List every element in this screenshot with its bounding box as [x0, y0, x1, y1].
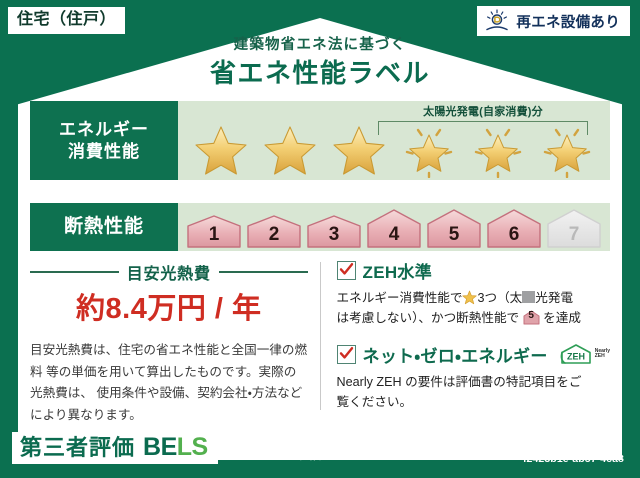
evaluation-date: 評価日 2025年6月2日 [485, 432, 624, 453]
bels-wordmark: BELS [143, 435, 208, 460]
utility-cost-note: 目安光熱費は、住宅の省エネ性能と全国一律の燃料 等の単価を用いて算出したものです… [30, 340, 308, 427]
star-icon [261, 122, 319, 178]
energy-performance-value: 太陽光発電(自家消費)分 [178, 101, 610, 180]
label-title-block: 建築物省エネ法に基づく 省エネ性能ラベル [0, 38, 640, 88]
insulation-badge-number: 2 [246, 224, 302, 246]
utility-cost-value: 約8.4万円 / 年 [30, 294, 308, 326]
insulation-badge-inactive: 7 [546, 208, 602, 248]
zeh-standard-block: ZEH水準 エネルギー消費性能で3つ（太光発電 は考慮しない）、かつ断熱性能で … [337, 258, 610, 329]
net-zero-heading: ネット・ゼロ・エネルギー ZEH Nearly ZEH [337, 342, 610, 367]
renewable-equipment-badge: 再エネ設備あり [477, 6, 630, 36]
energy-key-line2: 消費性能 [68, 141, 140, 162]
net-zero-title: ネット・ゼロ・エネルギー [363, 342, 548, 367]
inline-insulation-badge: 5 [523, 310, 540, 325]
bels-certification-mark: 第三者評価 BELS [12, 432, 218, 464]
zeh-logo-sub2: ZEH [595, 353, 605, 359]
insulation-badge-number: 6 [486, 224, 542, 246]
insulation-performance-row: 断熱性能 [30, 203, 610, 251]
zeh-body-1b: 3つ（太 [477, 291, 522, 305]
utility-cost-column: 目安光熱費 約8.4万円 / 年 目安光熱費は、住宅の省エネ性能と全国一律の燃料… [30, 258, 320, 418]
bels-wordmark-part2: LS [177, 433, 208, 461]
property-name: D-Sereno志木柏町 [218, 444, 336, 464]
utility-cost-heading-text: 目安光熱費 [127, 260, 211, 284]
insulation-badge-number: 4 [366, 224, 422, 246]
energy-performance-key: エネルギー 消費性能 [30, 101, 178, 180]
inline-star-icon [462, 290, 477, 305]
title-main: 省エネ性能ラベル [0, 59, 640, 88]
net-zero-body-line1: Nearly ZEH の要件は評価書の特記項目をご [337, 375, 582, 389]
insulation-badge: 6 [486, 208, 542, 248]
zeh-standard-heading: ZEH水準 [337, 258, 610, 283]
inline-badge-number: 5 [523, 310, 540, 325]
zeh-body-1a: エネルギー消費性能で [337, 291, 463, 305]
insulation-badge-number: 3 [306, 224, 362, 246]
insulation-badge-number: 1 [186, 224, 242, 246]
insulation-badge: 5 [426, 208, 482, 248]
insulation-badge: 3 [306, 214, 362, 248]
svg-text:ZEH: ZEH [567, 352, 585, 362]
star-icon-solar [469, 122, 527, 178]
star-icon [192, 122, 250, 178]
insulation-badge: 4 [366, 208, 422, 248]
insulation-performance-value: 1 2 3 4 [178, 203, 610, 251]
room-number: 302 [337, 443, 362, 460]
zeh-body-1c: 光発電 [535, 291, 573, 305]
insulation-badge: 1 [186, 214, 242, 248]
housing-type-tag: 住宅（住戸） [8, 7, 125, 34]
zeh-standard-body: エネルギー消費性能で3つ（太光発電 は考慮しない）、かつ断熱性能で 5 を達成 [337, 288, 610, 329]
heading-rule-right [219, 271, 308, 273]
net-zero-energy-block: ネット・ゼロ・エネルギー ZEH Nearly ZEH [337, 342, 610, 413]
star-icon-solar [400, 122, 458, 178]
redacted-character [522, 291, 535, 303]
zeh-logo-subtext: Nearly ZEH [595, 349, 610, 360]
insulation-grade-badges: 1 2 3 4 [178, 203, 610, 251]
star-rating [178, 122, 610, 178]
checkbox-checked-icon [337, 345, 356, 364]
star-icon [330, 122, 388, 178]
zeh-standard-title: ZEH水準 [363, 258, 433, 283]
certification-column: ZEH水準 エネルギー消費性能で3つ（太光発電 は考慮しない）、かつ断熱性能で … [321, 258, 610, 418]
zeh-logo-icon: ZEH Nearly ZEH [559, 343, 610, 365]
heading-rule-left [30, 271, 119, 273]
checkbox-checked-icon [337, 261, 356, 280]
energy-performance-label: 住宅（住戸） 再エネ設備あり 建築物省エネ法に基づく 省エネ性能ラベル [0, 0, 640, 478]
lower-content: 目安光熱費 約8.4万円 / 年 目安光熱費は、住宅の省エネ性能と全国一律の燃料… [30, 258, 610, 418]
insulation-badge-number: 7 [546, 224, 602, 246]
insulation-badge-number: 5 [426, 224, 482, 246]
renewable-badge-label: 再エネ設備あり [516, 11, 620, 32]
sun-renewable-icon [484, 9, 510, 33]
footer-bar: 第三者評価 BELS D-Sereno志木柏町 302 評価日 2025年6月2… [0, 424, 640, 478]
zeh-body-2a: は考慮しない）、かつ断熱性能で [337, 311, 520, 325]
star-icon-solar [538, 122, 596, 178]
insulation-performance-key: 断熱性能 [30, 203, 178, 251]
zeh-body-2b: を達成 [543, 311, 581, 325]
energy-performance-row: エネルギー 消費性能 太陽光発電(自家消費)分 [30, 101, 610, 180]
evaluation-id: f2423b1e-ab57-4ca8 [523, 453, 624, 465]
insulation-badge: 2 [246, 214, 302, 248]
bels-wordmark-part1: BE [143, 433, 177, 461]
energy-key-line1: エネルギー [59, 119, 149, 140]
utility-cost-heading: 目安光熱費 [30, 260, 308, 284]
solar-bracket-label: 太陽光発電(自家消費)分 [378, 103, 588, 119]
third-party-eval-label: 第三者評価 [20, 436, 135, 459]
title-subtitle: 建築物省エネ法に基づく [0, 38, 640, 54]
net-zero-body-line2: 覧ください。 [337, 395, 413, 409]
net-zero-body: Nearly ZEH の要件は評価書の特記項目をご 覧ください。 [337, 372, 610, 413]
